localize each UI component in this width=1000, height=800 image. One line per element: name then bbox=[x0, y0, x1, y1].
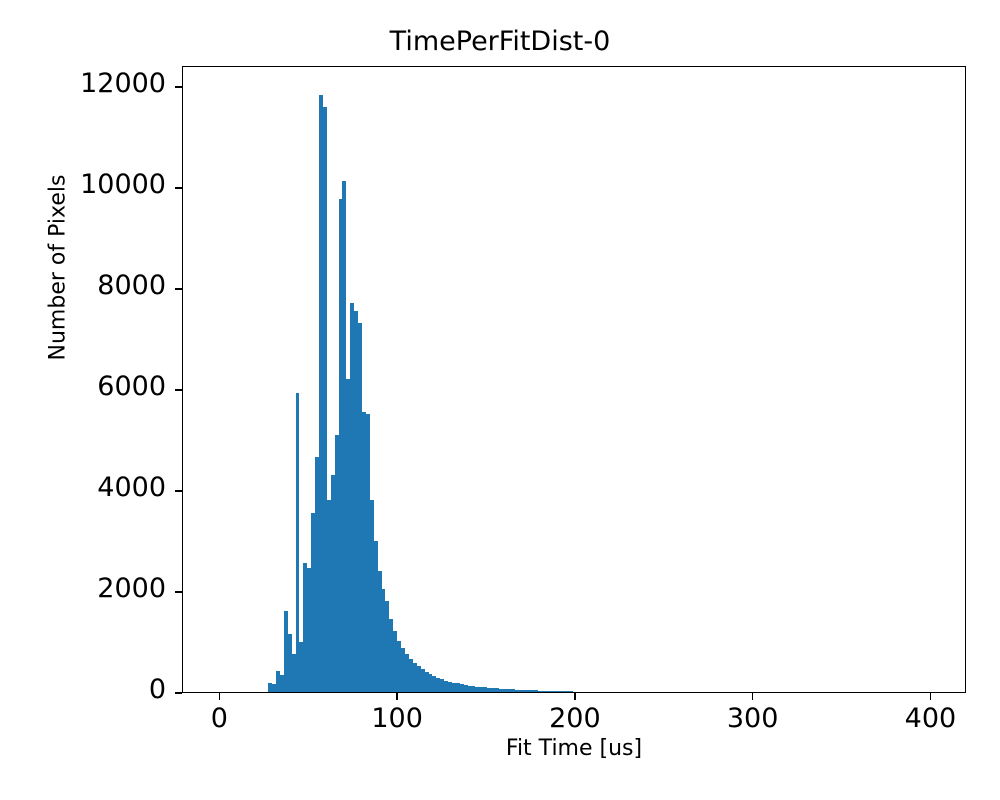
x-tick-mark bbox=[574, 693, 576, 700]
y-tick-mark bbox=[175, 389, 182, 391]
y-tick-label: 8000 bbox=[0, 270, 166, 301]
y-tick-mark bbox=[175, 591, 182, 593]
histogram-bar bbox=[569, 691, 573, 692]
y-tick-label: 2000 bbox=[0, 573, 166, 604]
y-tick-label: 6000 bbox=[0, 371, 166, 402]
y-axis-label: Number of Pixels bbox=[46, 98, 71, 438]
chart-figure: TimePerFitDist-0 02000400060008000100001… bbox=[0, 0, 1000, 800]
y-tick-mark bbox=[175, 692, 182, 694]
y-tick-label: 0 bbox=[0, 674, 166, 705]
x-tick-mark bbox=[396, 693, 398, 700]
x-tick-mark bbox=[930, 693, 932, 700]
y-tick-label: 4000 bbox=[0, 472, 166, 503]
plot-area bbox=[182, 66, 966, 693]
x-tick-mark bbox=[219, 693, 221, 700]
x-tick-mark bbox=[752, 693, 754, 700]
y-tick-label: 10000 bbox=[0, 169, 166, 200]
histogram-bars bbox=[183, 67, 965, 692]
x-tick-label: 400 bbox=[905, 703, 957, 734]
y-tick-label: 12000 bbox=[0, 68, 166, 99]
y-tick-mark bbox=[175, 86, 182, 88]
y-tick-mark bbox=[175, 288, 182, 290]
x-tick-label: 0 bbox=[211, 703, 228, 734]
x-tick-label: 200 bbox=[549, 703, 601, 734]
chart-title: TimePerFitDist-0 bbox=[0, 26, 1000, 57]
x-tick-label: 100 bbox=[371, 703, 423, 734]
x-tick-label: 300 bbox=[727, 703, 779, 734]
x-axis-label: Fit Time [us] bbox=[182, 736, 966, 761]
y-tick-mark bbox=[175, 490, 182, 492]
y-tick-mark bbox=[175, 187, 182, 189]
